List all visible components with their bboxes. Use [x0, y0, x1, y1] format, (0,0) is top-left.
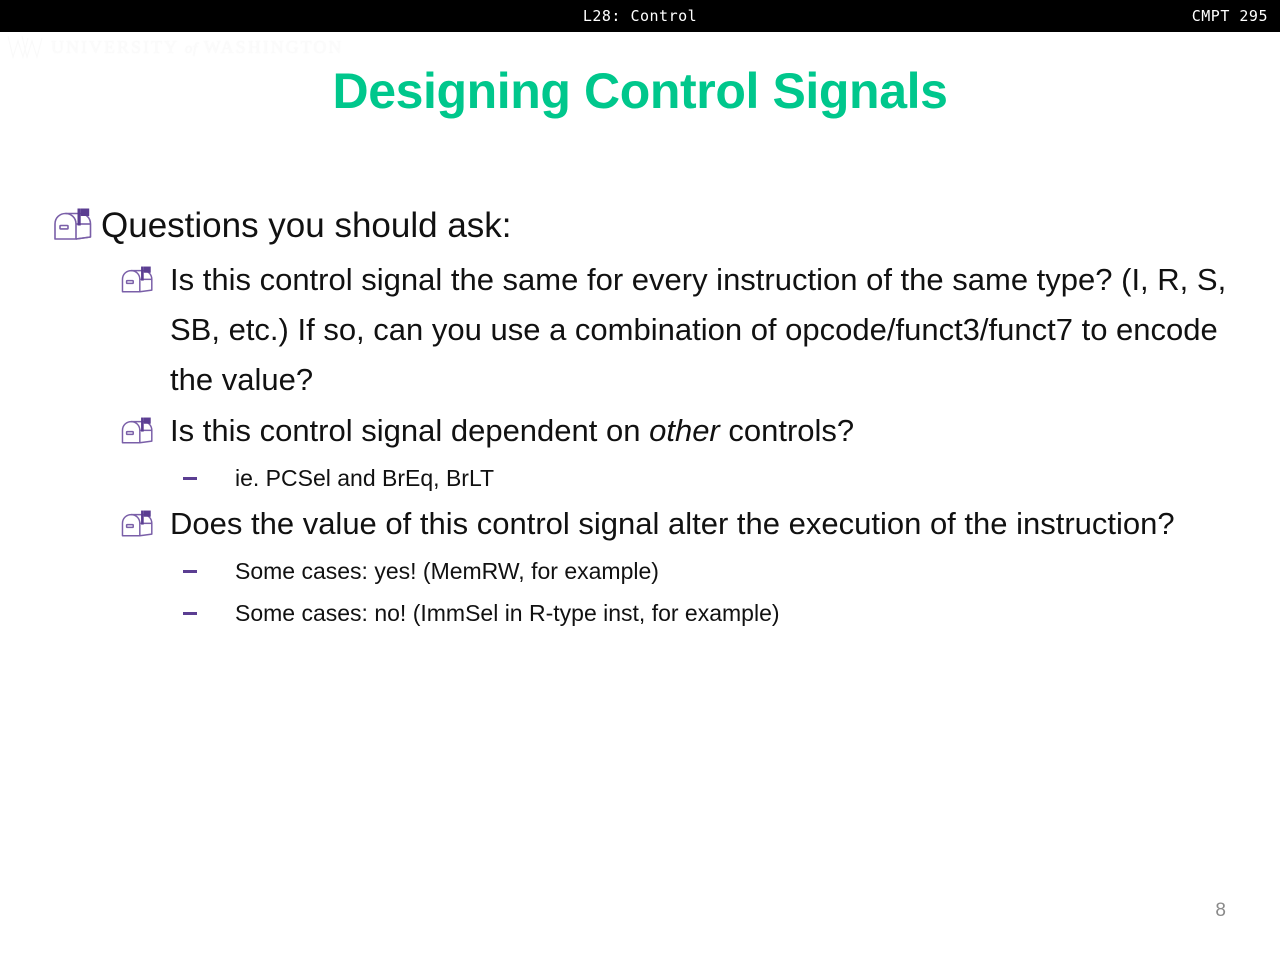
dash-bullet-icon [183, 570, 197, 573]
bullet-level3-label: Some cases: no! (ImmSel in R-type inst, … [197, 592, 780, 634]
text-segment: Is this control signal the same for ever… [170, 262, 1226, 397]
text-segment: ie. PCSel and BrEq, BrLT [235, 465, 494, 491]
uw-w-monogram-icon [6, 34, 44, 60]
mailbox-icon [120, 509, 158, 541]
uw-washington-word: WASHINGTON [204, 37, 344, 57]
bullet-level3-label: ie. PCSel and BrEq, BrLT [197, 457, 494, 499]
bullet-level3: Some cases: no! (ImmSel in R-type inst, … [0, 592, 1280, 634]
slide-title: Designing Control Signals [0, 62, 1280, 120]
course-code: CMPT 295 [1192, 0, 1268, 32]
text-segment: Some cases: yes! (MemRW, for example) [235, 558, 659, 584]
uw-logo-text: UNIVERSITY of WASHINGTON [51, 37, 343, 58]
bullet-level3-label: Some cases: yes! (MemRW, for example) [197, 550, 659, 592]
page-number: 8 [1215, 900, 1226, 922]
slide-body: Questions you should ask: Is this contro… [0, 200, 1280, 634]
dash-bullet-icon [183, 612, 197, 615]
bullet-level2: Is this control signal the same for ever… [0, 255, 1280, 405]
lecture-title: L28: Control [0, 0, 1280, 32]
uw-logo-watermark: UNIVERSITY of WASHINGTON [6, 33, 343, 61]
uw-of-word: of [185, 41, 198, 57]
bullet-level2-label: Does the value of this control signal al… [158, 499, 1175, 549]
bullet-level2: Is this control signal dependent on othe… [0, 406, 1280, 456]
bullet-level1: Questions you should ask: [0, 200, 1280, 251]
mailbox-icon [120, 416, 158, 448]
bullet-level2: Does the value of this control signal al… [0, 499, 1280, 549]
uw-university-word: UNIVERSITY [51, 37, 178, 57]
text-segment: Is this control signal dependent on [170, 413, 649, 448]
bullet-level2-label: Is this control signal dependent on othe… [158, 406, 854, 456]
mailbox-icon [52, 207, 98, 245]
text-segment: controls? [720, 413, 854, 448]
text-segment: Does the value of this control signal al… [170, 506, 1175, 541]
text-segment: Some cases: no! (ImmSel in R-type inst, … [235, 600, 780, 626]
header-bar: L28: Control CMPT 295 [0, 0, 1280, 32]
dash-bullet-icon [183, 477, 197, 480]
bullet-level3: Some cases: yes! (MemRW, for example) [0, 550, 1280, 592]
bullet-level2-label: Is this control signal the same for ever… [158, 255, 1230, 405]
bullet-level3: ie. PCSel and BrEq, BrLT [0, 457, 1280, 499]
mailbox-icon [120, 265, 158, 297]
bullet-level1-label: Questions you should ask: [98, 200, 512, 251]
text-segment-italic: other [649, 413, 720, 448]
